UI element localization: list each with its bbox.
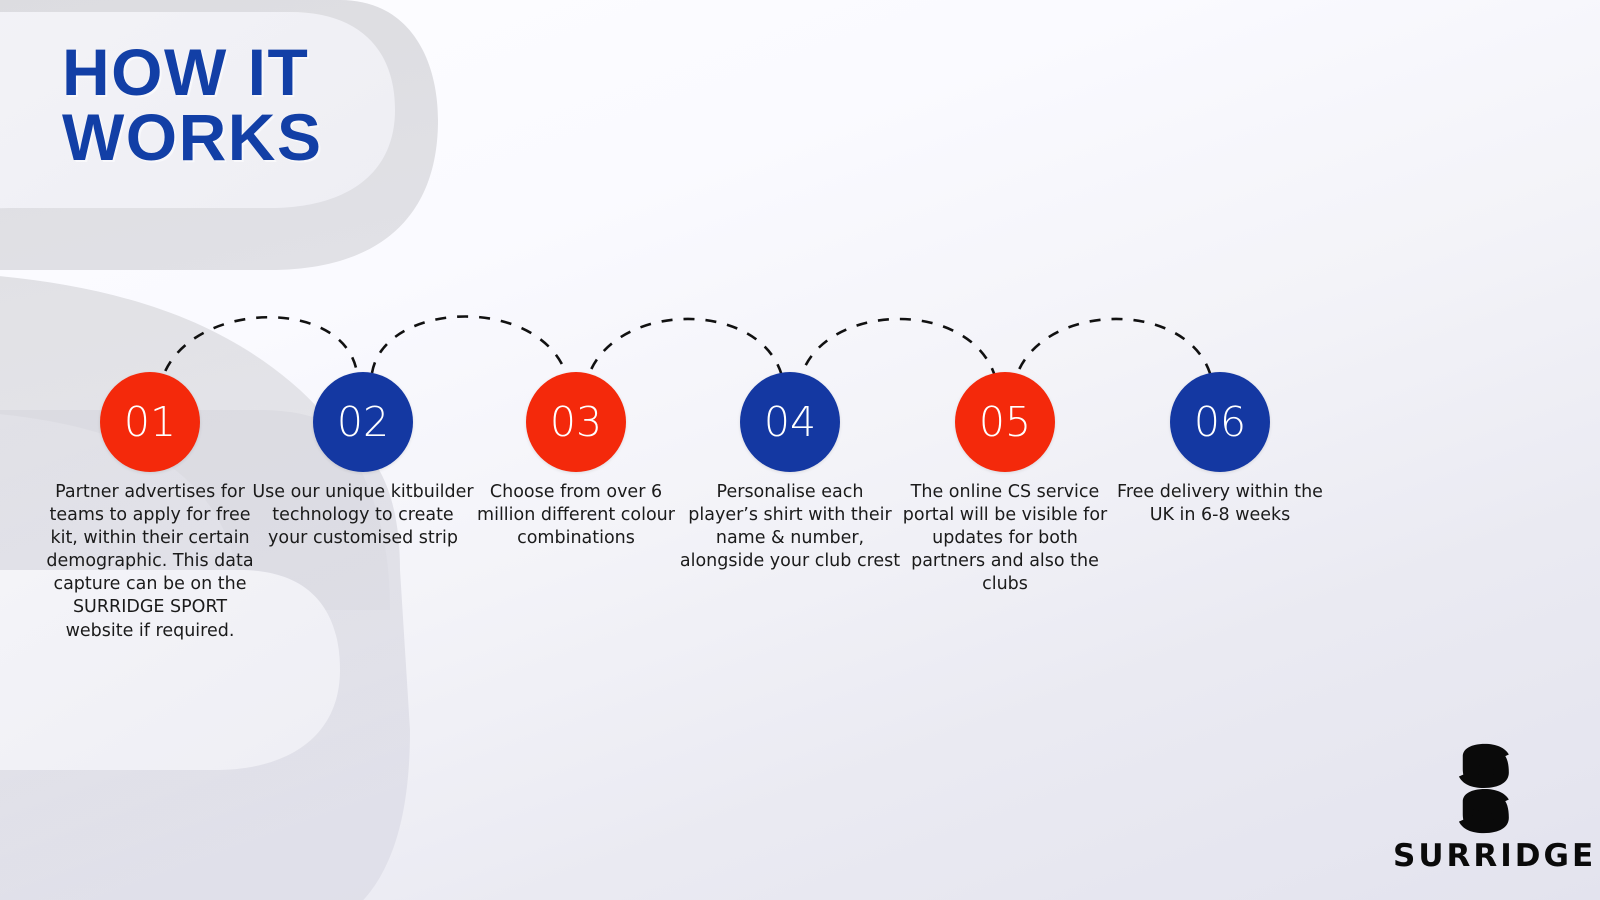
step-06-number: 06 — [1194, 402, 1246, 443]
step-05-number: 05 — [979, 402, 1031, 443]
step-04: 04 Personalise each player’s shirt with … — [679, 372, 901, 573]
step-04-text: Personalise each player’s shirt with the… — [679, 481, 901, 573]
step-01-badge: 01 — [100, 372, 200, 472]
step-02-number: 02 — [337, 402, 389, 443]
step-02-badge: 02 — [313, 372, 413, 472]
step-06-text: Free delivery within the UK in 6-8 weeks — [1109, 481, 1331, 527]
step-05-text: The online CS service portal will be vis… — [894, 481, 1116, 596]
step-02-text: Use our unique kitbuilder technology to … — [252, 481, 474, 550]
surridge-logo: SURRIDGE — [1393, 741, 1568, 872]
step-01-text: Partner advertises for teams to apply fo… — [39, 481, 261, 643]
step-06: 06 Free delivery within the UK in 6-8 we… — [1109, 372, 1331, 527]
surridge-double-s-icon — [1433, 741, 1529, 837]
step-01: 01 Partner advertises for teams to apply… — [39, 372, 261, 643]
step-03: 03 Choose from over 6 million different … — [465, 372, 687, 550]
step-06-badge: 06 — [1170, 372, 1270, 472]
step-05: 05 The online CS service portal will be … — [894, 372, 1116, 596]
surridge-wordmark: SURRIDGE — [1393, 841, 1568, 872]
step-03-number: 03 — [550, 402, 602, 443]
slide-canvas: HOW IT WORKS 01 Partner advertises for t… — [0, 0, 1600, 900]
step-04-badge: 04 — [740, 372, 840, 472]
step-03-badge: 03 — [526, 372, 626, 472]
step-01-number: 01 — [124, 402, 176, 443]
step-03-text: Choose from over 6 million different col… — [465, 481, 687, 550]
step-05-badge: 05 — [955, 372, 1055, 472]
steps-container: 01 Partner advertises for teams to apply… — [0, 0, 1600, 900]
step-04-number: 04 — [764, 402, 816, 443]
step-02: 02 Use our unique kitbuilder technology … — [252, 372, 474, 550]
